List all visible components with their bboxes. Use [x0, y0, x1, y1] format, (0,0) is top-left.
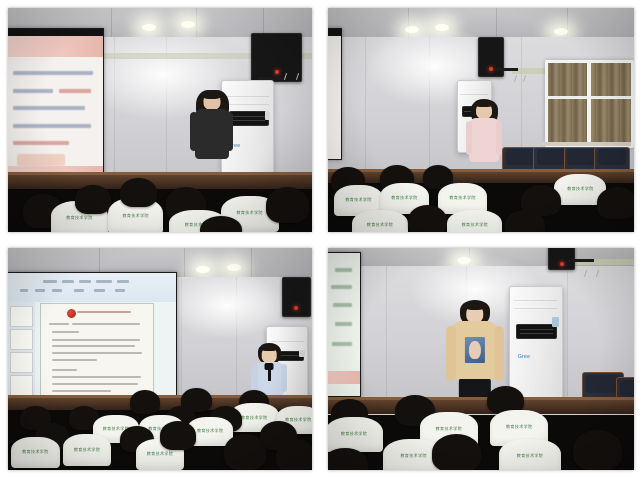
chair-cover-text: 教育技术学院	[400, 453, 426, 459]
photo-bottom-left: 教育技术学院 教育技术学院 教育技术学院 教育技术学院 教育技术学院 教育技术	[8, 248, 312, 470]
slide-text-line	[13, 106, 85, 110]
chair-cover-text: 教育技术学院	[391, 195, 417, 201]
ac-brand-logo: Gree	[518, 354, 530, 360]
speaker-led-icon	[489, 67, 493, 71]
word-document-page	[40, 303, 154, 403]
chair-cover-text: 教育技术学院	[567, 186, 593, 192]
projector-screen-edge	[328, 252, 361, 396]
speaker-led-icon	[275, 70, 279, 74]
presenter	[181, 86, 242, 171]
chair-cover-text: 教育技术学院	[517, 453, 543, 459]
audience-head	[266, 187, 309, 223]
audience-head	[408, 205, 448, 232]
chair-cover-text: 教育技术学院	[22, 449, 48, 455]
chair-cover-text: 教育技术学院	[341, 431, 367, 437]
projector-screen	[8, 28, 104, 176]
speaker-led-icon	[294, 306, 298, 310]
party-emblem-icon	[67, 309, 76, 318]
audience-head	[432, 434, 481, 470]
ac-vent	[516, 324, 556, 339]
audience-head	[120, 178, 156, 207]
chair-cover-text: 教育技术学院	[147, 451, 173, 457]
chair-cover: 教育技术学院	[499, 439, 560, 470]
photo-top-right: 教育技术学院 教育技术学院 教育技术学院 教育技术学院 教育技术学院 教育技术学…	[328, 8, 634, 232]
photo-collage: Gree 教育技术学院 教育技术学院	[0, 0, 642, 482]
hoodie-graphic	[465, 337, 485, 363]
downlight	[196, 266, 210, 273]
chair-cover: 教育技术学院	[328, 417, 383, 453]
chair-cover-text: 教育技术学院	[241, 415, 267, 421]
presenter-torso	[469, 118, 499, 162]
audience-head	[75, 185, 111, 214]
downlight	[227, 264, 241, 271]
audience-head	[573, 430, 622, 470]
ceiling	[328, 8, 634, 39]
audience-head	[130, 390, 160, 414]
slide-text-line	[13, 124, 91, 128]
chair-cover-text: 教育技术学院	[345, 197, 371, 203]
chair-cover-text: 教育技术学院	[74, 447, 100, 453]
audience-head	[160, 421, 196, 450]
slide-text-line	[13, 71, 93, 75]
chair-cover: 教育技术学院	[447, 210, 502, 232]
chair-cover-text: 教育技术学院	[122, 213, 148, 219]
audience-head	[276, 439, 312, 470]
chair-cover-text: 教育技术学院	[462, 222, 488, 228]
chair-cover-text: 教育技术学院	[506, 424, 532, 430]
slide-text-line	[13, 89, 53, 93]
chair-cover-text: 教育技术学院	[436, 426, 462, 432]
chair-cover-text: 教育技术学院	[285, 417, 311, 423]
chair-cover: 教育技术学院	[11, 437, 60, 468]
chair-cover: 教育技术学院	[63, 434, 112, 465]
photo-bottom-right: Gree	[328, 248, 634, 470]
chair-cover-text: 教育技术学院	[66, 215, 92, 221]
presenter-torso	[195, 109, 229, 158]
audience-head	[597, 187, 634, 218]
chair-cover-text: 教育技术学院	[236, 210, 262, 216]
word-ribbon	[8, 273, 176, 301]
speaker-led-icon	[560, 262, 564, 266]
ribbon-tie	[265, 363, 274, 370]
audience-head	[224, 434, 267, 470]
projector-screen-edge	[328, 28, 342, 160]
chair-cover: 教育技术学院	[352, 210, 407, 232]
word-thumbnail-pane	[8, 302, 35, 407]
chair-cover-text: 教育技术学院	[197, 428, 223, 434]
wall-speaker	[282, 277, 311, 317]
chair-cover-text: 教育技术学院	[449, 195, 475, 201]
photo-top-left: Gree 教育技术学院 教育技术学院	[8, 8, 312, 232]
window	[545, 60, 634, 149]
chair-cover-text: 教育技术学院	[367, 222, 393, 228]
air-conditioner: Gree	[509, 286, 563, 406]
wall-speaker	[251, 33, 302, 82]
